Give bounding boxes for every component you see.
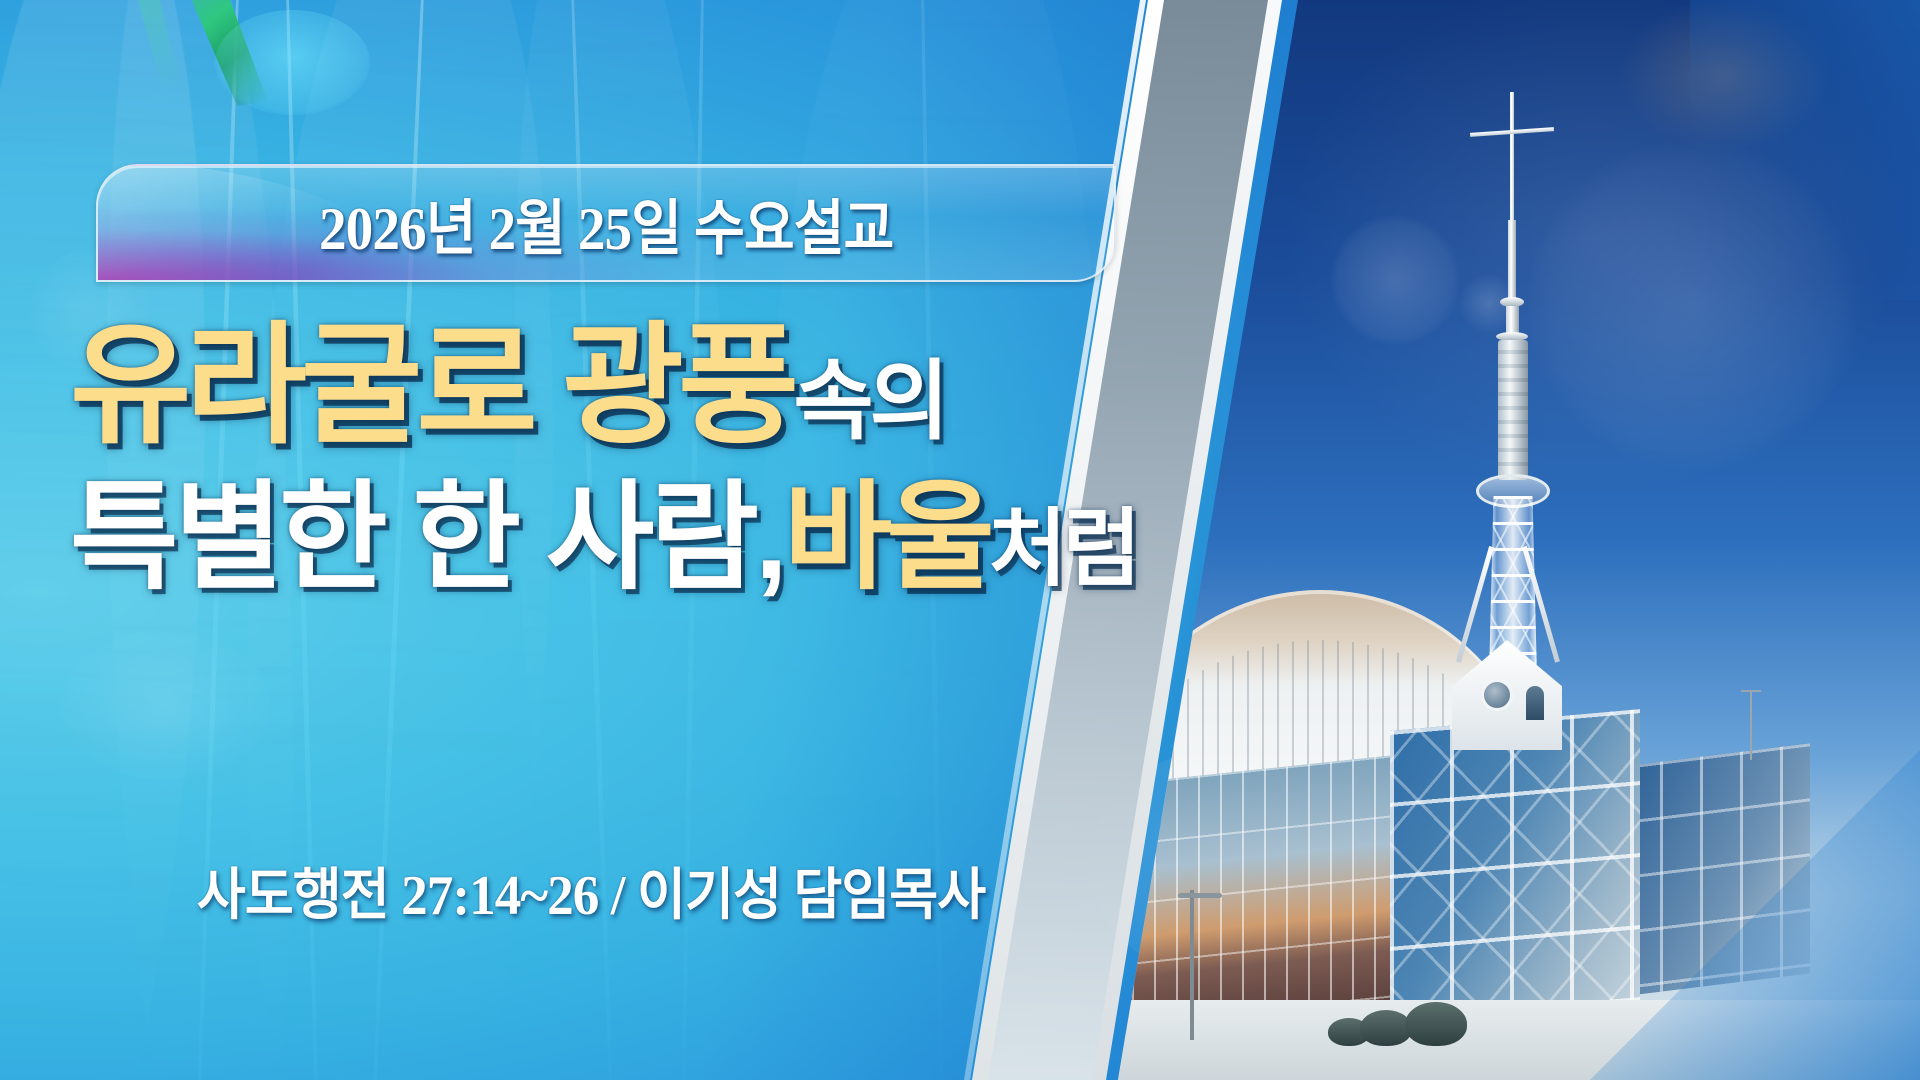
scripture-reference: 사도행전 27:14~26 / 이기성 담임목사 — [197, 850, 986, 931]
title-line-1-plain: 속의 — [793, 353, 945, 450]
title-line-1: 유라굴로 광풍속의 — [70, 320, 1190, 453]
text-content: 2026년 2월 25일 수요설교 유라굴로 광풍속의 특별한 한 사람,바울처… — [0, 0, 1200, 1080]
date-banner: 2026년 2월 25일 수요설교 — [96, 164, 1116, 282]
title-line-2: 특별한 한 사람,바울처럼 — [70, 479, 1190, 598]
title-line-2-highlight: 바울 — [784, 472, 989, 604]
date-banner-text: 2026년 2월 25일 수요설교 — [319, 180, 893, 267]
sermon-title-slide: 2026년 2월 25일 수요설교 유라굴로 광풍속의 특별한 한 사람,바울처… — [0, 0, 1920, 1080]
page-title: 유라굴로 광풍속의 특별한 한 사람,바울처럼 — [70, 320, 1190, 598]
title-line-1-highlight: 유라굴로 광풍 — [70, 312, 793, 459]
title-line-2-plain-b: 처럼 — [989, 502, 1137, 597]
photo-blue-tint-top — [1690, 0, 1920, 300]
title-line-2-plain-a: 특별한 한 사람, — [70, 472, 784, 604]
